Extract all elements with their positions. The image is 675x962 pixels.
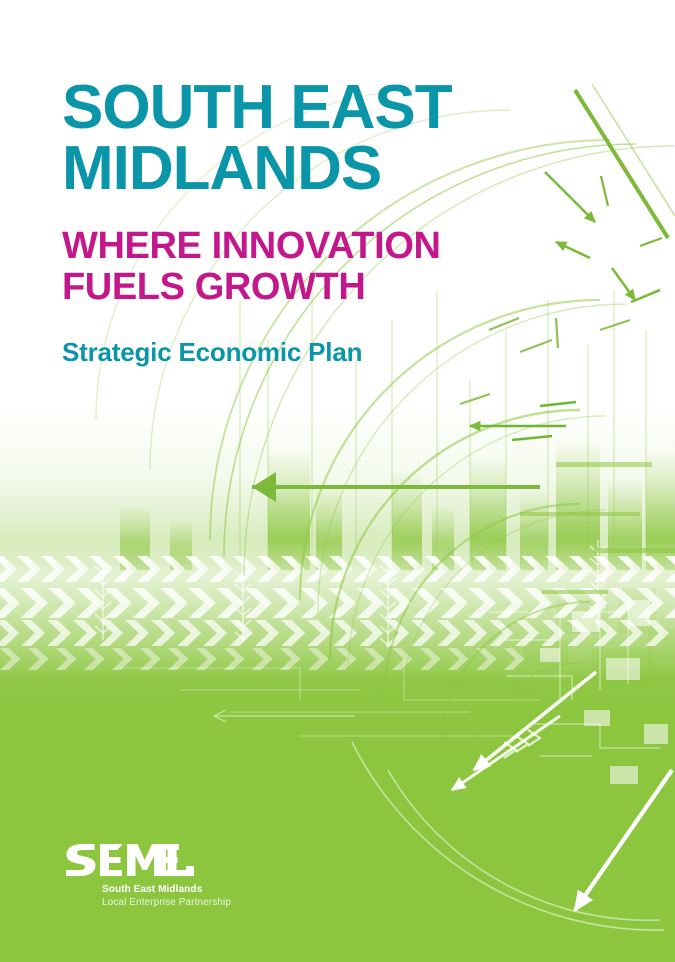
cover-tagline: Strategic Economic Plan xyxy=(62,338,532,367)
horizontal-haze-band xyxy=(0,540,675,680)
cover-text-block: SOUTH EAST MIDLANDS WHERE INNOVATION FUE… xyxy=(62,78,532,366)
semlep-logo: South East Midlands Local Enterprise Par… xyxy=(64,842,231,909)
cover-subtitle: WHERE INNOVATION FUELS GROWTH xyxy=(62,226,532,308)
page-title: SOUTH EAST MIDLANDS xyxy=(62,78,532,200)
logo-line-secondary: Local Enterprise Partnership xyxy=(102,897,231,910)
logo-line-primary: South East Midlands xyxy=(102,884,231,897)
document-cover: SOUTH EAST MIDLANDS WHERE INNOVATION FUE… xyxy=(0,0,675,962)
semlep-wordmark-icon xyxy=(64,842,194,878)
logo-text-lines: South East Midlands Local Enterprise Par… xyxy=(102,884,231,909)
